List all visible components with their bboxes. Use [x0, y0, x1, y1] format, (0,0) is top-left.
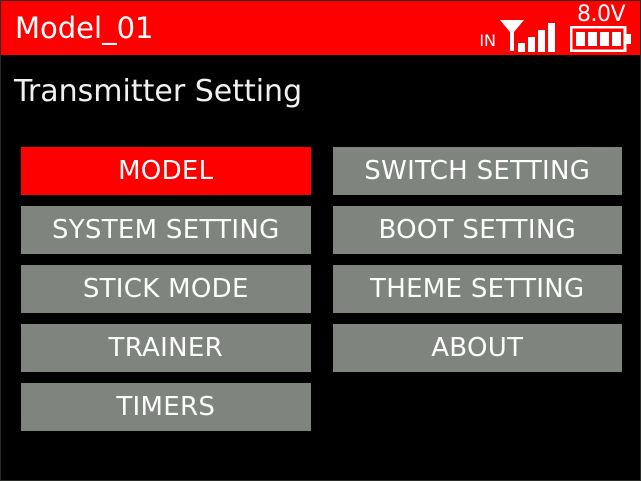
header-bar: Model_01 IN 8.0V [1, 1, 640, 55]
signal-mode-label: IN [479, 33, 496, 52]
menu-item-stick-mode[interactable]: STICK MODE [21, 265, 311, 313]
header-status-group: IN 8.0V [479, 2, 632, 54]
battery-icon [570, 26, 632, 52]
transmitter-screen: Model_01 IN 8.0V [0, 0, 641, 481]
menu-grid: MODEL SYSTEM SETTING STICK MODE TRAINER … [21, 147, 622, 431]
page-title: Transmitter Setting [14, 75, 302, 109]
menu-item-about[interactable]: ABOUT [333, 324, 623, 372]
menu-item-boot-setting[interactable]: BOOT SETTING [333, 206, 623, 254]
menu-item-trainer[interactable]: TRAINER [21, 324, 311, 372]
battery-indicator: 8.0V [570, 2, 632, 52]
menu-column-left: MODEL SYSTEM SETTING STICK MODE TRAINER … [21, 147, 311, 431]
menu-item-theme-setting[interactable]: THEME SETTING [333, 265, 623, 313]
battery-voltage-label: 8.0V [577, 5, 625, 25]
menu-column-right: SWITCH SETTING BOOT SETTING THEME SETTIN… [333, 147, 623, 431]
signal-strength-indicator: IN [479, 18, 558, 52]
menu-item-timers[interactable]: TIMERS [21, 383, 311, 431]
menu-item-switch-setting[interactable]: SWITCH SETTING [333, 147, 623, 195]
model-name-label[interactable]: Model_01 [15, 14, 153, 43]
menu-item-model[interactable]: MODEL [21, 147, 311, 195]
antenna-signal-icon [498, 18, 558, 52]
menu-item-system-setting[interactable]: SYSTEM SETTING [21, 206, 311, 254]
